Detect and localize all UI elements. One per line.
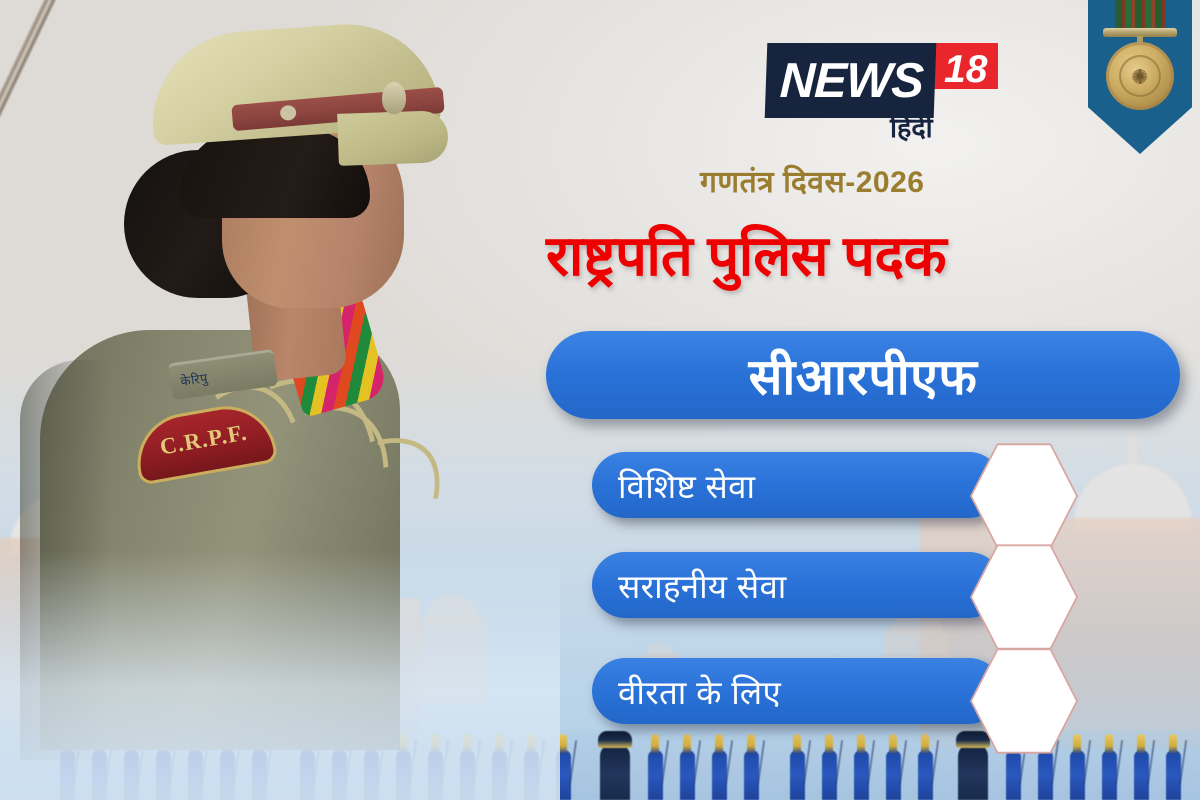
category-label: विशिष्ट सेवा [618,463,755,508]
parade-soldier [1070,750,1085,800]
parade-soldier [886,750,901,800]
ashoka-chakra-icon [1125,61,1155,91]
portrait-fade-overlay [0,550,560,800]
parade-soldier [648,750,663,800]
poster-canvas: केरिपु C.R.P.F. NEWS 18 हिंदी [0,0,1200,800]
category-label: वीरता के लिए [618,669,781,714]
crpf-patch-label: C.R.P.F. [135,416,271,465]
page-title: राष्ट्रपति पुलिस पदक [546,228,946,284]
officer-cap-peak [337,110,449,166]
parade-soldier [680,750,695,800]
officer-portrait: केरिपु C.R.P.F. [0,0,560,800]
event-kicker: गणतंत्र दिवस-2026 [700,160,924,201]
officer-cap-badge-icon [382,82,406,114]
parade-soldier [918,750,933,800]
parade-lead-officer [958,744,988,800]
logo-language-label: हिंदी [890,108,933,145]
parade-soldier [822,750,837,800]
parade-soldier [1038,750,1053,800]
logo-18-badge: 18 [933,43,998,89]
parade-soldier [1166,750,1181,800]
logo-news-text: NEWS [765,43,937,118]
parade-soldier [854,750,869,800]
chakra-hub [1137,73,1143,79]
medal-inner-ring [1119,55,1161,97]
force-name-label: सीआरपीएफ [749,341,978,409]
news18-logo[interactable]: NEWS 18 [766,43,998,118]
parade-lead-officer [600,744,630,800]
category-bar-sarahniya-seva: सराहनीय सेवा [592,552,1002,618]
parade-soldier [1134,750,1149,800]
parade-soldier [712,750,727,800]
parade-soldier [744,750,759,800]
parade-soldier [1006,750,1021,800]
category-bar-vishisht-seva: विशिष्ट सेवा [592,452,1002,518]
medal-disc-icon [1106,42,1174,110]
epaulette-label: केरिपु [179,368,209,390]
parade-soldier [1102,750,1117,800]
parade-soldier [790,750,805,800]
category-label: सराहनीय सेवा [618,563,787,608]
force-name-pill: सीआरपीएफ [546,331,1180,419]
category-bar-veerta-ke-liye: वीरता के लिए [592,658,1002,724]
medal-ribbon-icon [1115,0,1165,30]
